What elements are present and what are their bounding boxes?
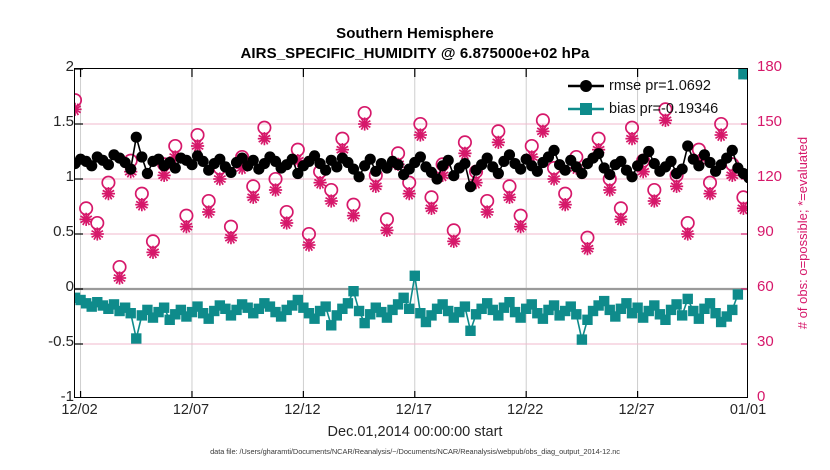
legend-label: rmse pr=1.0692 <box>609 78 711 94</box>
legend-label: bias pr=-0.19346 <box>609 101 718 117</box>
x-tick-6: 01/01 <box>708 402 788 418</box>
y-tick-left-3: 0.5 <box>14 225 74 239</box>
x-tick-3: 12/17 <box>374 402 454 418</box>
x-tick-2: 12/12 <box>262 402 342 418</box>
y-tick-right-0: 180 <box>757 60 807 74</box>
y-axis-left-label: rmse and bias (model - observation) <box>0 68 5 398</box>
x-tick-1: 12/07 <box>151 402 231 418</box>
y-tick-left-5: -0.5 <box>14 335 74 349</box>
x-axis-label: Dec.01,2014 00:00:00 start <box>0 424 830 440</box>
chart-legend: rmse pr=1.0692bias pr=-0.19346 <box>566 74 742 120</box>
legend-item-bias: bias pr=-0.19346 <box>566 97 742 120</box>
y-tick-left-4: 0 <box>14 280 74 294</box>
y-tick-right-2: 120 <box>757 170 807 184</box>
x-tick-5: 12/27 <box>597 402 677 418</box>
data-file-footer: data file: /Users/gharamti/Documents/NCA… <box>0 447 830 456</box>
y-tick-left-1: 1.5 <box>14 115 74 129</box>
chart-page: Southern Hemisphere AIRS_SPECIFIC_HUMIDI… <box>0 0 830 470</box>
y-tick-right-4: 60 <box>757 280 807 294</box>
x-tick-0: 12/02 <box>40 402 120 418</box>
y-tick-left-0: 2 <box>14 60 74 74</box>
y-tick-left-2: 1 <box>14 170 74 184</box>
filled-square-icon <box>566 99 606 119</box>
y-tick-right-1: 150 <box>757 115 807 129</box>
filled-circle-icon <box>566 76 606 96</box>
x-tick-4: 12/22 <box>485 402 565 418</box>
title-line-2: AIRS_SPECIFIC_HUMIDITY @ 6.875000e+02 hP… <box>0 44 830 64</box>
y-tick-right-5: 30 <box>757 335 807 349</box>
legend-item-rmse: rmse pr=1.0692 <box>566 74 742 97</box>
title-line-1: Southern Hemisphere <box>0 24 830 44</box>
y-tick-right-3: 90 <box>757 225 807 239</box>
chart-title: Southern Hemisphere AIRS_SPECIFIC_HUMIDI… <box>0 24 830 64</box>
